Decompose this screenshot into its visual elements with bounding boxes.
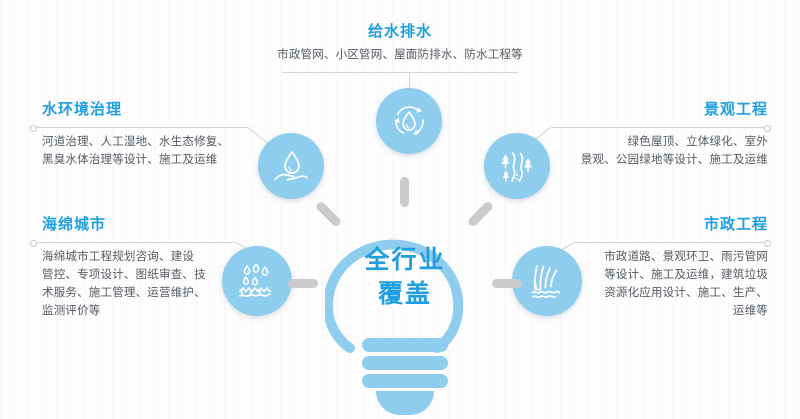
section-desc-water-environment-treatment: 河道治理、人工湿地、水生态修复、 黑臭水体治理等设计、施工及运维 bbox=[42, 133, 262, 169]
section-water-environment-treatment: 水环境治理 bbox=[42, 100, 252, 120]
section-heading-municipal-engineering: 市政工程 bbox=[560, 215, 768, 235]
icon-drainage-pipe[interactable] bbox=[512, 246, 582, 316]
connector-drop-top bbox=[409, 72, 410, 89]
rain-sponge-icon bbox=[234, 258, 280, 304]
connector-line-right-bottom bbox=[576, 242, 765, 243]
connector-line-right-top bbox=[552, 127, 765, 128]
section-desc-landscape-engineering: 绿色屋顶、立体绿化、室外 景观、公园绿地等设计、施工及运维 bbox=[548, 133, 768, 169]
section-heading-landscape-engineering: 景观工程 bbox=[560, 100, 768, 120]
bulb-base-bar-1 bbox=[362, 338, 448, 352]
desc-line: 景观、公园绿地等设计、施工及运维 bbox=[548, 151, 768, 169]
section-heading-water-supply-drainage: 给水排水 bbox=[270, 22, 530, 42]
section-desc-water-supply-drainage: 市政管网、小区管网、屋面防排水、防水工程等 bbox=[270, 46, 530, 64]
section-municipal-engineering: 市政工程 bbox=[560, 215, 768, 235]
section-sponge-city: 海绵城市 bbox=[42, 215, 252, 235]
icon-water-recycle[interactable] bbox=[376, 88, 442, 154]
ray-top bbox=[400, 177, 409, 207]
trees-path-icon bbox=[496, 145, 538, 187]
desc-line: 市政道路、景观环卫、雨污管网 bbox=[548, 248, 768, 266]
desc-line: 监测评价等 bbox=[42, 302, 242, 320]
desc-line: 运维等 bbox=[548, 302, 768, 320]
center-lightbulb: 全行业 覆盖 bbox=[300, 185, 510, 415]
drainage-pipe-icon bbox=[524, 258, 570, 304]
infographic-canvas: 给水排水 市政管网、小区管网、屋面防排水、防水工程等 水环境治理 河道治理、人工… bbox=[0, 0, 800, 419]
bulb-base-bar-2 bbox=[362, 356, 448, 370]
center-title: 全行业 覆盖 bbox=[300, 243, 510, 311]
desc-line: 海绵城市工程规划咨询、建设 bbox=[42, 248, 242, 266]
connector-line-left-bottom bbox=[36, 242, 236, 243]
water-recycle-icon bbox=[388, 100, 430, 142]
bulb-base-bar-3 bbox=[362, 374, 448, 388]
desc-line: 黑臭水体治理等设计、施工及运维 bbox=[42, 151, 262, 169]
center-title-line-2: 覆盖 bbox=[300, 277, 510, 311]
bulb-base-cap bbox=[376, 391, 434, 415]
connector-line-left-top bbox=[36, 127, 248, 128]
connector-line-top bbox=[282, 72, 518, 73]
section-desc-sponge-city: 海绵城市工程规划咨询、建设 管控、专项设计、图纸审查、技 术服务、施工管理、运营… bbox=[42, 248, 242, 320]
connector-dot-right-top bbox=[764, 125, 771, 132]
desc-line: 管控、专项设计、图纸审查、技 bbox=[42, 266, 242, 284]
desc-line: 河道治理、人工湿地、水生态修复、 bbox=[42, 133, 262, 151]
desc-line: 绿色屋顶、立体绿化、室外 bbox=[548, 133, 768, 151]
center-title-line-1: 全行业 bbox=[300, 243, 510, 277]
connector-dot-right-bottom bbox=[764, 240, 771, 247]
hand-holding-droplet-icon bbox=[269, 144, 313, 188]
section-heading-sponge-city: 海绵城市 bbox=[42, 215, 252, 235]
section-water-supply-drainage: 给水排水 市政管网、小区管网、屋面防排水、防水工程等 bbox=[270, 22, 530, 64]
icon-rain-sponge[interactable] bbox=[222, 246, 292, 316]
section-heading-water-environment-treatment: 水环境治理 bbox=[42, 100, 252, 120]
desc-line: 术服务、施工管理、运营维护、 bbox=[42, 284, 242, 302]
section-landscape-engineering: 景观工程 bbox=[560, 100, 768, 120]
